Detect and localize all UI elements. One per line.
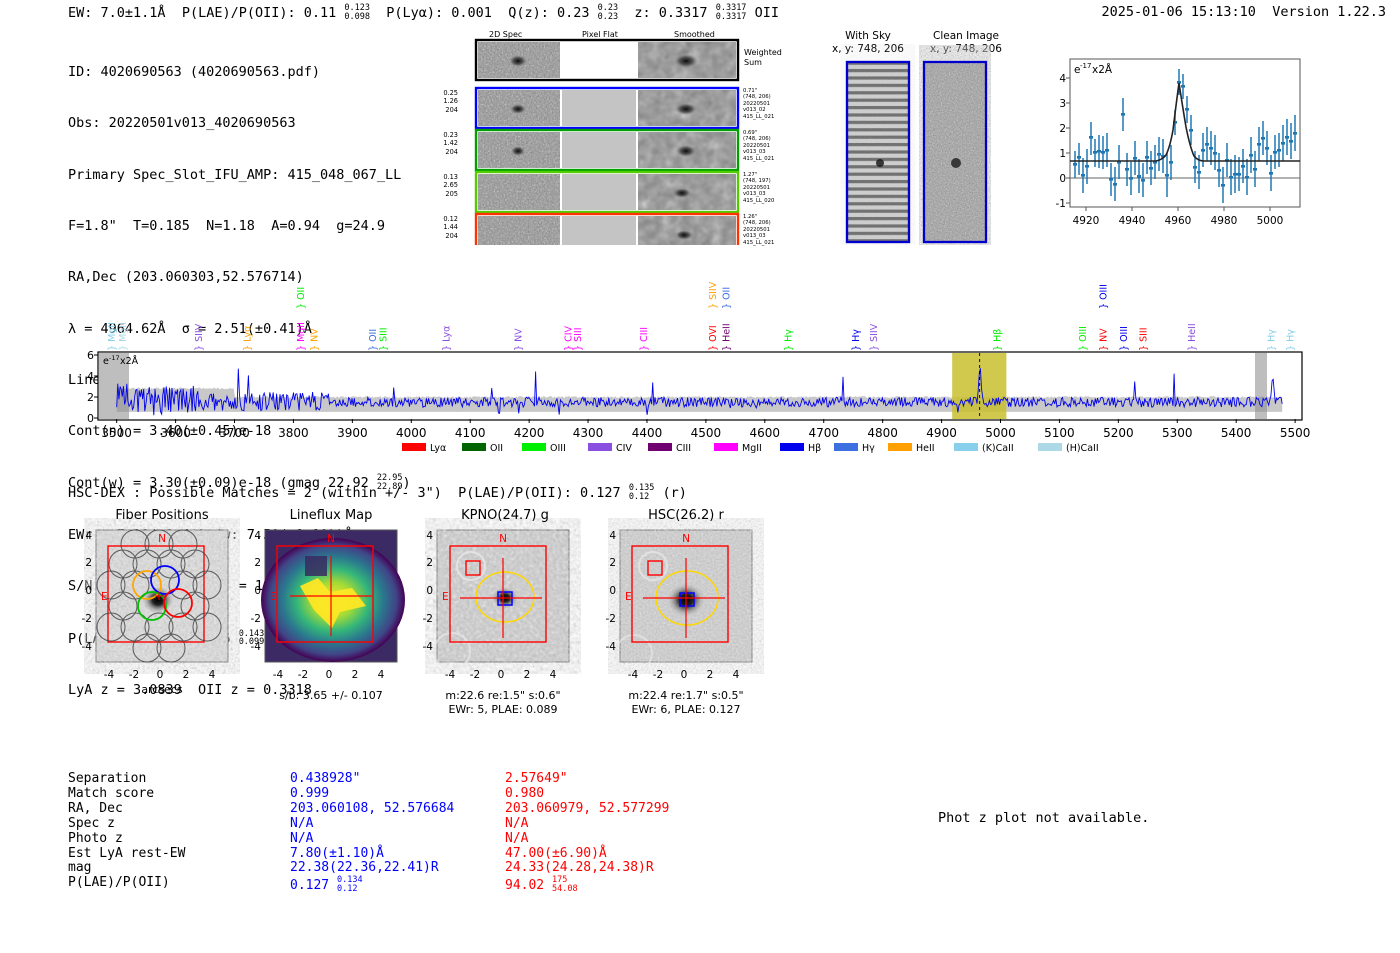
header-plae-label: P(LAE)/P(OII): [182, 5, 296, 21]
spectrum-line-label: } OIII [1119, 326, 1130, 351]
svg-text:} CIII: } CIII [639, 327, 650, 351]
full-spectrum-canvas: } MgII} MgII} SIIV} Lyα} MgII} OII} NV} … [0, 272, 1400, 472]
svg-text:2: 2 [254, 557, 261, 569]
kpno-caption-1: m:22.6 re:1.5" s:0.6" [437, 689, 569, 702]
spectrum-xtick: 4600 [750, 426, 781, 440]
header-z-label: z: [634, 5, 650, 21]
svg-text:0: 0 [426, 585, 433, 597]
table-cell-match1: N/A [290, 832, 505, 847]
svg-text:-2: -2 [606, 613, 616, 625]
info-seeing-throughput: F=1.8" T=0.185 N=1.18 A=0.94 g=24.9 [68, 218, 411, 235]
svg-text:-4: -4 [104, 669, 115, 681]
spec2d-canvas [462, 30, 752, 245]
legend-label: Hβ [808, 443, 821, 454]
svg-text:6: 6 [87, 349, 94, 362]
fiber-left-labels-2: 0.132.65205 [424, 173, 458, 198]
spectrum-line-label: } SIII [379, 328, 390, 352]
svg-text:N: N [327, 533, 335, 545]
table-cell-match2: N/A [505, 832, 669, 847]
spectrum-line-label: } OII [296, 287, 307, 309]
hsc-caption-2: EWr: 6, PLAE: 0.127 [620, 703, 752, 716]
legend-label: OIII [550, 443, 566, 454]
spec2d-panel-group: 2D Spec Pixel Flat Smoothed [462, 30, 752, 245]
table-row-label: Match score [68, 787, 290, 802]
info-spec-slot: Primary Spec_Slot_IFU_AMP: 415_048_067_L… [68, 167, 411, 184]
svg-text:} SIII: } SIII [1139, 328, 1150, 352]
svg-text:} Lyα: } Lyα [242, 326, 253, 351]
svg-text:4: 4 [85, 530, 92, 542]
table-row: Est LyA rest-EW7.80(±1.10)Å47.00(±6.90)Å [68, 847, 669, 862]
spectrum-xtick: 4100 [455, 426, 486, 440]
legend-label: MgII [742, 443, 762, 454]
header-qz-label: Q(z): [508, 5, 549, 21]
svg-text:} SIIV: } SIIV [194, 323, 205, 351]
svg-text:-2: -2 [653, 669, 663, 681]
spectrum-line-label: } MgII [107, 322, 118, 351]
svg-text:0: 0 [87, 412, 94, 425]
header-qz-range: 0.230.23 [598, 4, 618, 21]
table-row: Separation0.438928"2.57649" [68, 772, 669, 787]
spectrum-line-label: } SIII [573, 328, 584, 352]
spectrum-xtick: 3900 [337, 426, 368, 440]
table-row-label: RA, Dec [68, 802, 290, 817]
svg-text:4: 4 [254, 530, 261, 542]
fiber-meta-3: 1.26"(748, 206)20220501v013_03415_LL_021 [743, 214, 774, 246]
svg-text:} NV: } NV [1099, 328, 1110, 351]
table-row: Spec zN/AN/A [68, 817, 669, 832]
svg-text:-4: -4 [445, 669, 456, 681]
svg-text:-4: -4 [606, 641, 617, 653]
spectrum-xtick: 3600 [160, 426, 191, 440]
svg-text:4: 4 [378, 669, 385, 681]
spectrum-line-label: } OIII [1078, 326, 1089, 351]
svg-text:3: 3 [1059, 98, 1066, 110]
kpno-caption-2: EWr: 5, PLAE: 0.089 [437, 703, 569, 716]
legend-label: CIII [676, 443, 691, 454]
svg-text:} Hβ: } Hβ [993, 329, 1004, 351]
spectrum-line-label: } SIIV [194, 323, 205, 351]
spectrum-xtick: 4500 [691, 426, 722, 440]
spectrum-xtick: 4700 [808, 426, 839, 440]
spectrum-line-label: } OVI [708, 325, 719, 351]
spectrum-line-label: } Hγ [1267, 329, 1278, 351]
header-plae-range: 0.1230.098 [344, 4, 370, 21]
legend-swatch [888, 443, 912, 451]
svg-text:x2Å: x2Å [1092, 63, 1113, 76]
spectrum-line-label: } NV [1099, 328, 1110, 351]
hscdex-header-post: (r) [654, 485, 687, 501]
svg-text:E: E [270, 591, 277, 603]
svg-text:0: 0 [326, 669, 333, 681]
svg-text:} MgII: } MgII [296, 322, 307, 351]
svg-text:2: 2 [1059, 123, 1066, 135]
svg-text:4960: 4960 [1165, 215, 1192, 227]
fiber-meta-0: 0.71"(748, 206)20220501v013_02415_LL_021 [743, 88, 774, 120]
cutout-title-hsc: HSC(26.2) r [616, 508, 756, 523]
table-cell-match2: 47.00(±6.90)Å [505, 847, 669, 862]
svg-text:} Lyα: } Lyα [442, 326, 453, 351]
sky-panels-canvas [820, 30, 1015, 245]
cutouts-canvas: N E 420-2-4 -4-2024 arcsecs N E 420-2-4 [0, 508, 1400, 758]
legend-swatch [462, 443, 486, 451]
table-cell-match1-plae: 0.127 0.1340.12 [290, 876, 505, 894]
spectrum-xtick: 3700 [219, 426, 250, 440]
spectrum-line-label: } SIIV [708, 281, 719, 309]
spectrum-xtick: 5400 [1221, 426, 1252, 440]
svg-text:-2: -2 [129, 669, 139, 681]
svg-text:2: 2 [85, 557, 92, 569]
fiber-meta-2: 1.27"(748, 197)20220501v013_03415_LL_020 [743, 172, 774, 204]
legend-swatch [522, 443, 546, 451]
spectrum-xtick: 4400 [632, 426, 663, 440]
zoom-spectrum-panel: e -17 x2Å -101 234 492049404960 49805000 [1036, 55, 1306, 245]
svg-text:} Hγ: } Hγ [851, 329, 862, 351]
svg-text:} HeII: } HeII [1187, 323, 1198, 351]
table-cell-match2: 203.060979, 52.577299 [505, 802, 669, 817]
legend-label: CIV [616, 443, 632, 454]
svg-text:N: N [499, 533, 507, 545]
timestamp: 2025-01-06 15:13:10 [1102, 4, 1256, 20]
table-cell-match2-plae: 94.02 17554.08 [505, 876, 669, 894]
svg-text:4: 4 [426, 530, 433, 542]
spectrum-line-label: } SIIV [869, 323, 880, 351]
info-id: ID: 4020690563 (4020690563.pdf) [68, 64, 411, 81]
table-row: mag22.38(22.36,22.41)R24.33(24.28,24.38)… [68, 861, 669, 876]
legend-label: (K)CaII [982, 443, 1014, 454]
spectrum-xtick: 4900 [926, 426, 957, 440]
spectrum-line-label: } CIII [639, 327, 650, 351]
header-ew: EW: 7.0±1.1Å [68, 5, 166, 21]
legend-label: Hγ [862, 443, 875, 454]
svg-text:0: 0 [1059, 173, 1066, 185]
svg-text:4: 4 [87, 370, 94, 383]
spectrum-xtick: 4000 [396, 426, 427, 440]
spectrum-line-label: } NV [514, 328, 525, 351]
svg-text:4: 4 [733, 669, 740, 681]
legend-swatch [648, 443, 672, 451]
svg-text:-4: -4 [251, 641, 262, 653]
fiber-left-labels-3: 0.121.44204 [424, 215, 458, 240]
legend-label: OII [490, 443, 503, 454]
table-cell-match1: 0.999 [290, 787, 505, 802]
svg-text:N: N [158, 533, 166, 545]
svg-text:-17: -17 [1080, 62, 1091, 70]
fiber-xlabel: arcsecs [141, 683, 183, 696]
weighted-sum-label: Weighted Sum [744, 48, 782, 67]
legend-swatch [954, 443, 978, 451]
svg-text:0: 0 [681, 669, 688, 681]
cutout-title-lineflux-map: Lineflux Map [265, 508, 397, 523]
legend-swatch [1038, 443, 1062, 451]
svg-text:2: 2 [87, 391, 94, 404]
version-label: Version 1.22.3 [1272, 4, 1386, 20]
header-timestamp-block: 2025-01-06 15:13:10 Version 1.22.3 [1102, 4, 1387, 20]
fiber-left-labels-1: 0.231.42204 [424, 131, 458, 156]
svg-text:} SIII: } SIII [379, 328, 390, 352]
svg-text:-4: -4 [82, 641, 93, 653]
info-obs: Obs: 20220501v013_4020690563 [68, 115, 411, 132]
hscdex-header: HSC-DEX : Possible Matches = 2 (within +… [68, 484, 687, 501]
spectrum-line-label: } Hγ [783, 329, 794, 351]
svg-text:} NV: } NV [310, 328, 321, 351]
svg-text:} Hγ: } Hγ [783, 329, 794, 351]
svg-text:x2Å: x2Å [120, 355, 139, 367]
svg-text:} OII: } OII [296, 287, 307, 309]
spectrum-xtick: 3800 [278, 426, 309, 440]
spectrum-xtick: 5100 [1044, 426, 1075, 440]
spectrum-xtick: 5500 [1280, 426, 1311, 440]
spectrum-line-label: } MgII [118, 322, 129, 351]
svg-text:-4: -4 [273, 669, 284, 681]
svg-text:-2: -2 [423, 613, 433, 625]
spectrum-line-label: } NV [310, 328, 321, 351]
zoom-spectrum-canvas: e -17 x2Å -101 234 492049404960 49805000 [1036, 55, 1306, 245]
legend-swatch [588, 443, 612, 451]
spectrum-line-label: } MgII [296, 322, 307, 351]
svg-text:5000: 5000 [1257, 215, 1284, 227]
table-cell-match1: 7.80(±1.10)Å [290, 847, 505, 862]
spectrum-xtick: 5300 [1162, 426, 1193, 440]
table-row: RA, Dec203.060108, 52.576684203.060979, … [68, 802, 669, 817]
spectrum-line-label: } OII [722, 287, 733, 309]
svg-text:N: N [682, 533, 690, 545]
svg-text:} HeII: } HeII [722, 323, 733, 351]
svg-text:-17: -17 [109, 354, 120, 362]
svg-text:4: 4 [1059, 73, 1066, 85]
spectrum-xtick: 3500 [101, 426, 132, 440]
fiber-meta-1: 0.69"(748, 206)20220501v013_03415_LL_021 [743, 130, 774, 162]
legend-label: HeII [916, 443, 935, 454]
svg-text:} NV: } NV [514, 328, 525, 351]
spectrum-line-label: } Hγ [1285, 329, 1296, 351]
svg-text:} SIII: } SIII [573, 328, 584, 352]
hsc-caption-1: m:22.4 re:1.7" s:0.5" [620, 689, 752, 702]
legend-swatch [714, 443, 738, 451]
svg-text:} OVI: } OVI [708, 325, 719, 351]
table-row: Photo zN/AN/A [68, 832, 669, 847]
svg-text:2: 2 [609, 557, 616, 569]
table-row: Match score0.9990.980 [68, 787, 669, 802]
svg-text:1: 1 [1059, 148, 1066, 160]
svg-text:} SIIV: } SIIV [708, 281, 719, 309]
header-plya: P(Lyα): 0.001 [386, 5, 492, 21]
svg-text:-4: -4 [628, 669, 639, 681]
table-row-plae: P(LAE)/P(OII)0.127 0.1340.1294.02 17554.… [68, 876, 669, 894]
svg-text:4940: 4940 [1119, 215, 1146, 227]
svg-text:E: E [442, 591, 449, 603]
legend-swatch [780, 443, 804, 451]
svg-text:4: 4 [609, 530, 616, 542]
svg-text:} OII: } OII [368, 329, 379, 351]
legend-label: (H)CaII [1066, 443, 1099, 454]
lineflux-caption: s/b: 3.65 +/- 0.107 [265, 689, 397, 702]
svg-text:4980: 4980 [1211, 215, 1238, 227]
table-row-label: Photo z [68, 832, 290, 847]
svg-text:-2: -2 [298, 669, 308, 681]
svg-text:} OIII: } OIII [1119, 326, 1130, 351]
spectrum-line-label: } OIII [1099, 284, 1110, 309]
svg-text:2: 2 [183, 669, 190, 681]
cutout-title-fiber-positions: Fiber Positions [96, 508, 228, 523]
svg-text:4: 4 [550, 669, 557, 681]
svg-text:0: 0 [498, 669, 505, 681]
table-cell-match1: 22.38(22.36,22.41)R [290, 861, 505, 876]
spectrum-line-label: } SIII [1139, 328, 1150, 352]
spectrum-line-label: } HeII [722, 323, 733, 351]
match-table: Separation0.438928"2.57649"Match score0.… [68, 772, 669, 894]
legend-swatch [402, 443, 426, 451]
table-cell-match2: N/A [505, 817, 669, 832]
svg-text:0: 0 [85, 585, 92, 597]
cutouts-group: Fiber Positions Lineflux Map KPNO(24.7) … [0, 508, 1400, 758]
svg-text:} Hγ: } Hγ [1285, 329, 1296, 351]
svg-text:-4: -4 [423, 641, 434, 653]
svg-text:} MgII: } MgII [118, 322, 129, 351]
svg-text:E: E [625, 591, 632, 603]
svg-text:2: 2 [352, 669, 359, 681]
svg-text:} OII: } OII [722, 287, 733, 309]
table-row-label: Est LyA rest-EW [68, 847, 290, 862]
table-row-label: Separation [68, 772, 290, 787]
svg-text:E: E [101, 591, 108, 603]
svg-text:0: 0 [254, 585, 261, 597]
svg-text:} Hγ: } Hγ [1267, 329, 1278, 351]
cutout-title-kpno: KPNO(24.7) g [435, 508, 575, 523]
table-cell-match1: N/A [290, 817, 505, 832]
hscdex-header-text: HSC-DEX : Possible Matches = 2 (within +… [68, 485, 629, 501]
header-z-line: OII [755, 5, 779, 21]
spectrum-xtick: 5200 [1103, 426, 1134, 440]
header-z-range: 0.33170.3317 [716, 4, 747, 21]
svg-text:4920: 4920 [1073, 215, 1100, 227]
header-qz-value: 0.23 [557, 5, 590, 21]
spectrum-line-label: } Hγ [851, 329, 862, 351]
svg-text:-2: -2 [470, 669, 480, 681]
legend-swatch [834, 443, 858, 451]
fiber-left-labels-0: 0.251.26204 [424, 89, 458, 114]
svg-text:} SIIV: } SIIV [869, 323, 880, 351]
legend-label: Lyα [430, 443, 446, 454]
svg-text:2: 2 [707, 669, 714, 681]
table-row-label: mag [68, 861, 290, 876]
full-spectrum-panel: } MgII} MgII} SIIV} Lyα} MgII} OII} NV} … [0, 272, 1400, 472]
spectrum-line-label: } Lyα [442, 326, 453, 351]
header-plae-value: 0.11 [304, 5, 337, 21]
table-row-label: Spec z [68, 817, 290, 832]
svg-text:} MgII: } MgII [107, 322, 118, 351]
spectrum-line-label: } HeII [1187, 323, 1198, 351]
table-cell-match2: 2.57649" [505, 772, 669, 787]
hscdex-plae-range: 0.1350.12 [629, 484, 655, 501]
table-cell-match2: 0.980 [505, 787, 669, 802]
photz-note: Phot z plot not available. [938, 810, 1149, 826]
svg-text:-2: -2 [251, 613, 261, 625]
svg-text:2: 2 [524, 669, 531, 681]
spectrum-xtick: 4800 [867, 426, 898, 440]
spectrum-line-label: } Hβ [993, 329, 1004, 351]
sky-panels-group: With Sky x, y: 748, 206 Clean Image x, y… [820, 30, 1015, 245]
header-summary-line: EW: 7.0±1.1Å P(LAE)/P(OII): 0.11 0.1230.… [68, 4, 779, 21]
svg-text:-2: -2 [82, 613, 92, 625]
svg-text:-1: -1 [1056, 198, 1066, 210]
spectrum-line-label: } OII [368, 329, 379, 351]
svg-text:0: 0 [609, 585, 616, 597]
table-cell-match1: 0.438928" [290, 772, 505, 787]
header-z-value: 0.3317 [659, 5, 708, 21]
spectrum-xtick: 4200 [514, 426, 545, 440]
spectrum-xtick: 4300 [573, 426, 604, 440]
table-cell-match1: 203.060108, 52.576684 [290, 802, 505, 817]
table-row-label: P(LAE)/P(OII) [68, 876, 290, 894]
svg-text:0: 0 [157, 669, 164, 681]
table-cell-match2: 24.33(24.28,24.38)R [505, 861, 669, 876]
svg-text:} OIII: } OIII [1099, 284, 1110, 309]
svg-text:2: 2 [426, 557, 433, 569]
spectrum-xtick: 5000 [985, 426, 1016, 440]
svg-text:} OIII: } OIII [1078, 326, 1089, 351]
spectrum-line-label: } Lyα [242, 326, 253, 351]
svg-text:4: 4 [209, 669, 216, 681]
